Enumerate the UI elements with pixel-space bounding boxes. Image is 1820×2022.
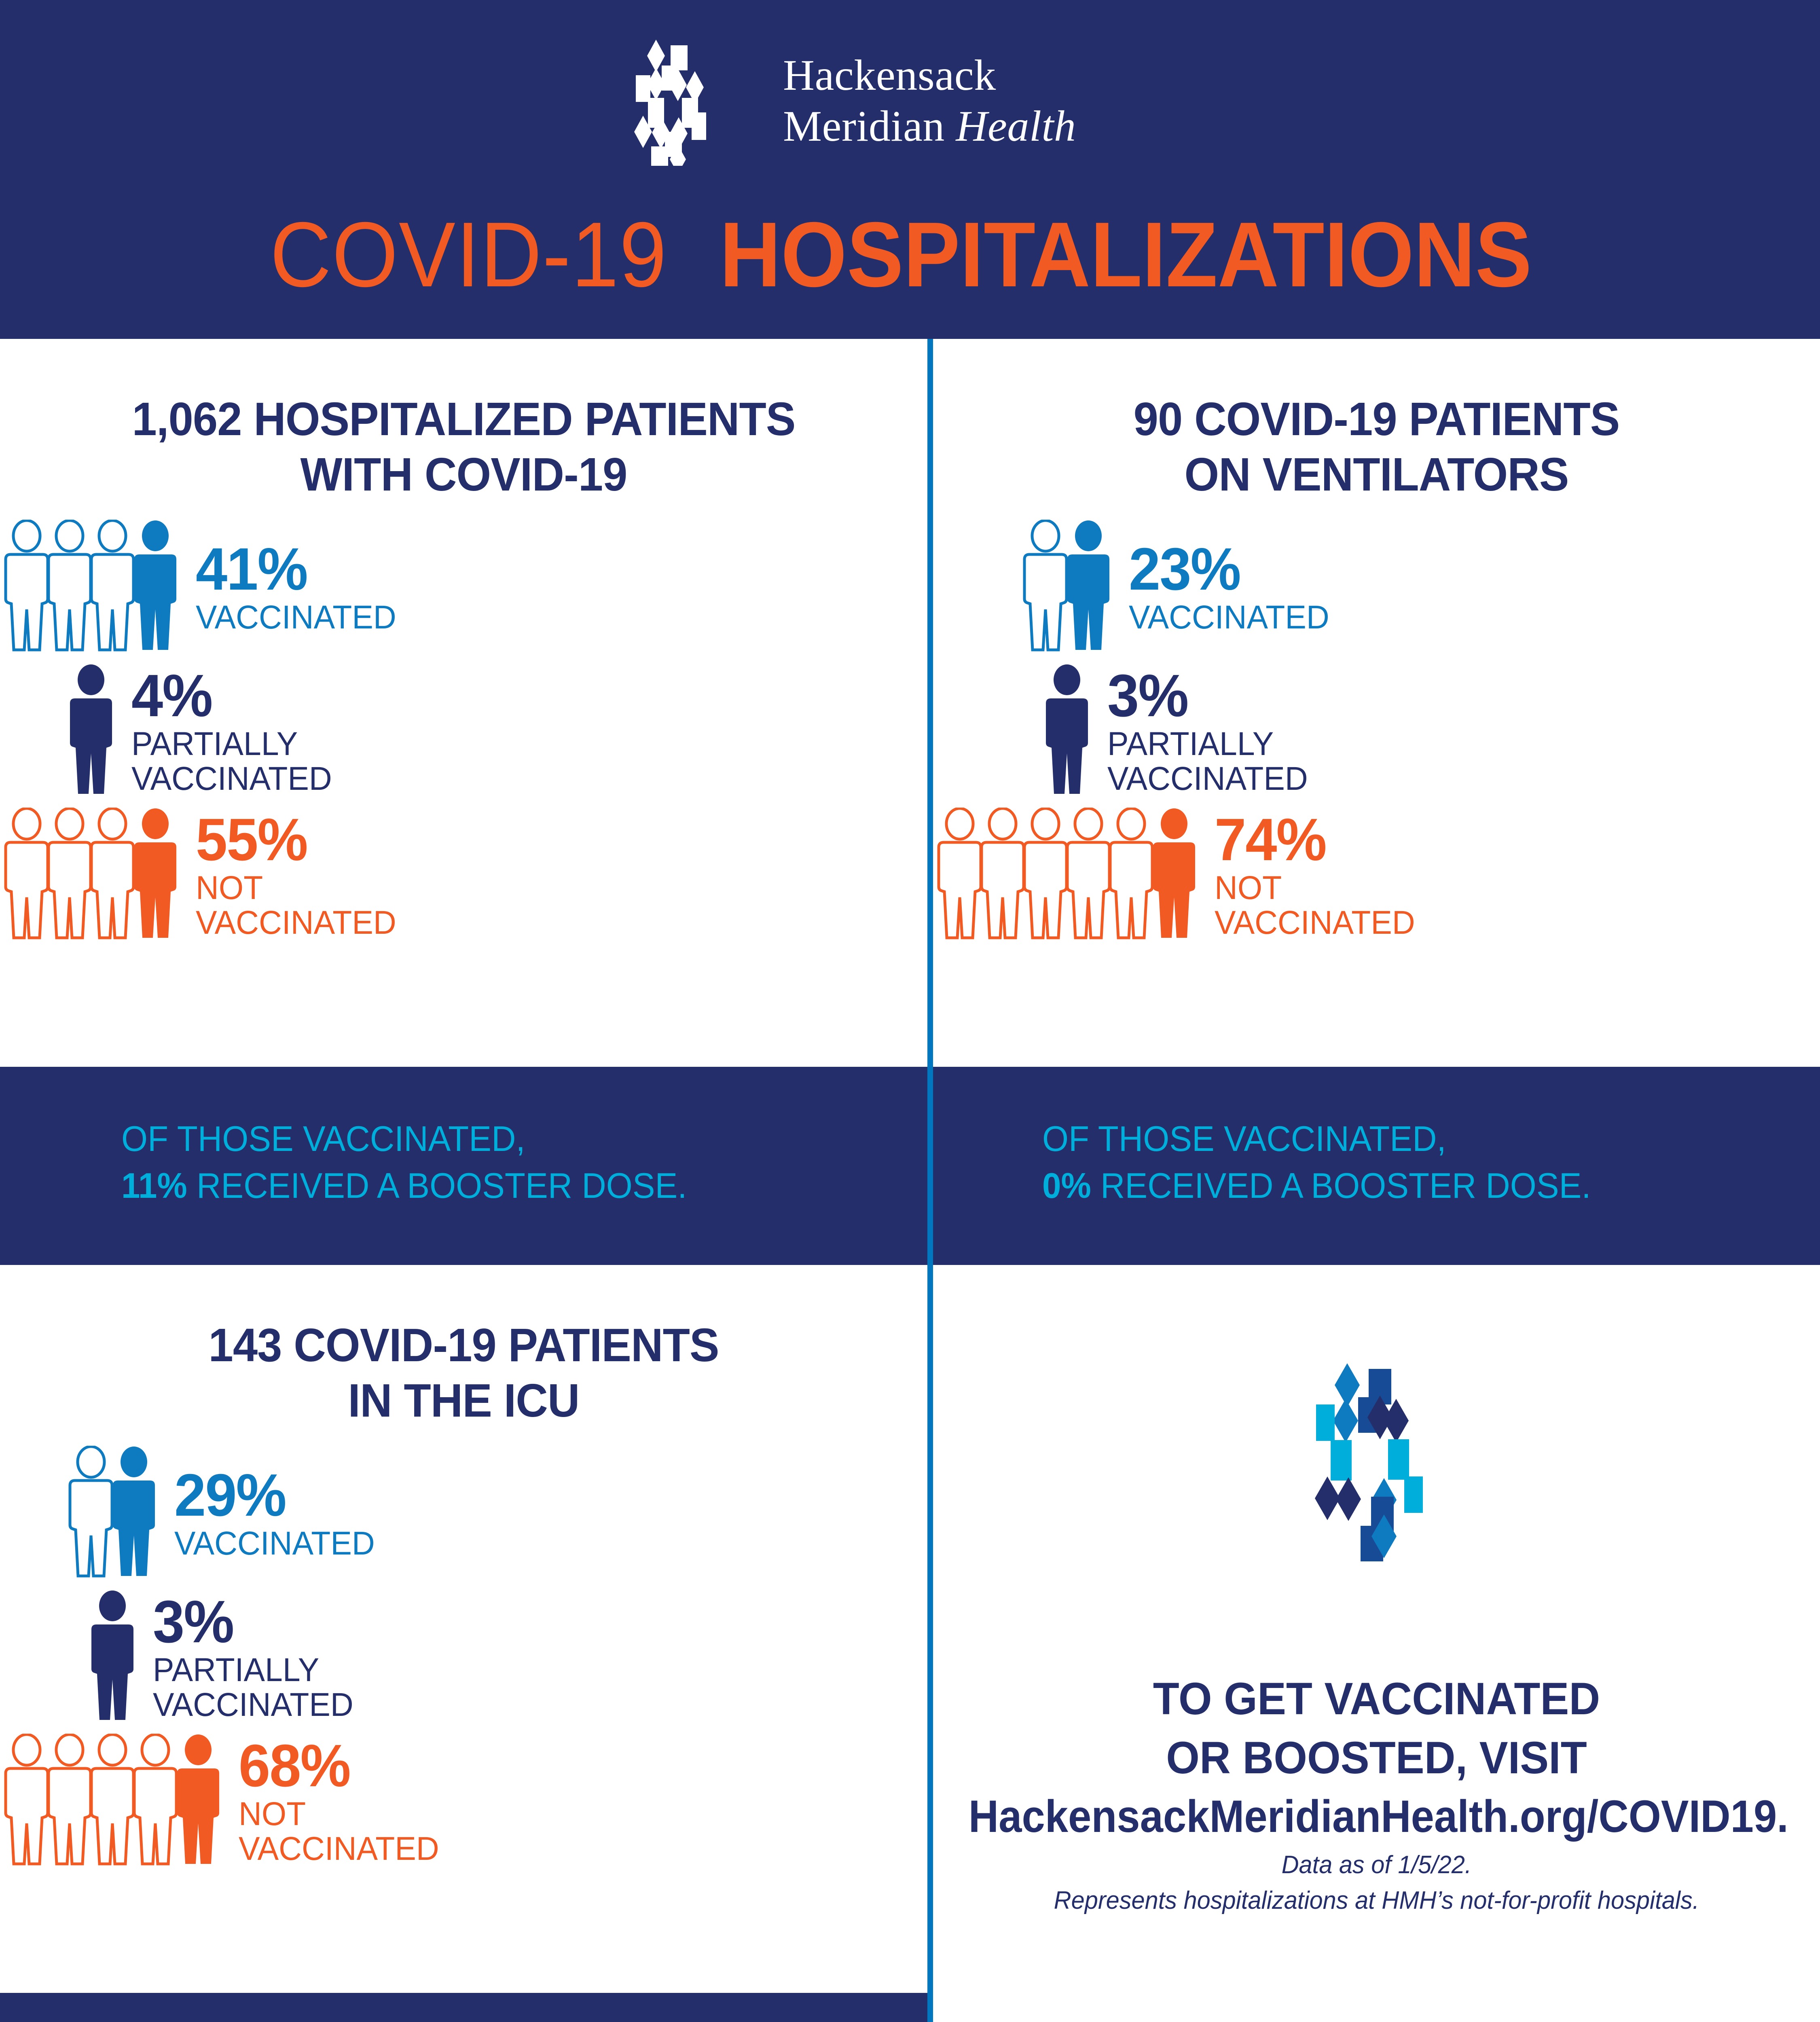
stat-percent: 3%	[153, 1595, 351, 1650]
booster-line-2: 11% RECEIVED A BOOSTER DOSE.	[121, 1162, 687, 1209]
booster-pct: 11%	[121, 1165, 187, 1206]
stat-text: 41%VACCINATED	[196, 542, 404, 635]
brand-meridian: Meridian	[783, 102, 956, 150]
stat-percent: 55%	[196, 812, 394, 867]
stat-row: 4%PARTIALLY VACCINATED	[0, 666, 927, 799]
stat-row: 29%VACCINATED	[0, 1448, 927, 1581]
stat-percent: 68%	[239, 1739, 437, 1794]
booster-text-hospitalized: OF THOSE VACCINATED, 11% RECEIVED A BOOS…	[121, 1115, 687, 1209]
brand-line-1: Hackensack	[783, 50, 1076, 101]
booster-line-2: 0% RECEIVED A BOOSTER DOSE.	[1042, 1162, 1591, 1209]
stat-label: NOT VACCINATED	[1215, 871, 1415, 940]
person-icon-filled	[171, 1734, 225, 1869]
heading-line-2: ON VENTILATORS	[990, 447, 1763, 502]
stat-text: 68%NOT VACCINATED	[239, 1739, 447, 1866]
vertical-divider-bottom	[927, 1265, 933, 2022]
stat-percent: 3%	[1107, 668, 1306, 723]
panel-ventilators-stats: 23%VACCINATED3%PARTIALLY VACCINATED74%NO…	[933, 522, 1820, 943]
booster-band-icu: OF THOSE VACCINATED, 7% RECEIVED A BOOST…	[0, 1993, 927, 2022]
stat-text: 3%PARTIALLY VACCINATED	[1107, 668, 1316, 796]
cta-line-2: OR BOOSTED, VISIT	[955, 1728, 1798, 1787]
stat-label: PARTIALLY VACCINATED	[153, 1653, 353, 1722]
brand-wordmark: Hackensack Meridian Health	[783, 50, 1076, 152]
cta-url-link[interactable]: HackensackMeridianHealth.org/COVID19.	[969, 1787, 1785, 1846]
booster-band-ventilators: OF THOSE VACCINATED, 0% RECEIVED A BOOST…	[933, 1067, 1820, 1265]
footnote-data-as-of: Data as of 1/5/22.	[951, 1847, 1802, 1883]
heading-line-2: IN THE ICU	[58, 1373, 870, 1428]
stat-row: 68%NOT VACCINATED	[0, 1736, 927, 1869]
pictogram-people-icon	[933, 666, 1094, 799]
panel-icu-stats: 29%VACCINATED3%PARTIALLY VACCINATED68%NO…	[0, 1448, 927, 1869]
pictogram-people-icon	[0, 1592, 139, 1725]
person-icon-filled	[86, 1590, 139, 1725]
panel-icu-heading: 143 COVID-19 PATIENTS IN THE ICU	[23, 1265, 904, 1428]
booster-line-1: OF THOSE VACCINATED,	[121, 1115, 687, 1162]
person-icon-filled	[129, 520, 182, 655]
brand-line-2: Meridian Health	[783, 101, 1076, 152]
booster-band-hospitalized: OF THOSE VACCINATED, 11% RECEIVED A BOOS…	[0, 1067, 927, 1265]
hackensack-meridian-diamond-mark-icon	[630, 36, 764, 166]
stat-label: NOT VACCINATED	[239, 1797, 439, 1866]
stat-percent: 29%	[174, 1468, 373, 1523]
stat-text: 29%VACCINATED	[174, 1468, 383, 1561]
pictogram-people-icon	[0, 666, 118, 799]
booster-text-ventilators: OF THOSE VACCINATED, 0% RECEIVED A BOOST…	[1042, 1115, 1591, 1209]
panel-cta: TO GET VACCINATED OR BOOSTED, VISIT Hack…	[933, 1265, 1820, 2022]
pictogram-people-icon	[933, 810, 1201, 943]
stat-percent: 41%	[196, 542, 394, 597]
person-icon-filled	[107, 1446, 161, 1581]
pictogram-people-icon	[0, 522, 182, 655]
stat-label: PARTIALLY VACCINATED	[1107, 727, 1308, 796]
stat-label: NOT VACCINATED	[196, 871, 396, 940]
cta-footnote: Data as of 1/5/22. Represents hospitaliz…	[933, 1847, 1820, 1918]
pictogram-people-icon	[0, 1736, 225, 1869]
stat-row: 3%PARTIALLY VACCINATED	[933, 666, 1820, 799]
stat-text: 23%VACCINATED	[1129, 542, 1337, 635]
booster-line-1: OF THOSE VACCINATED,	[1042, 1115, 1591, 1162]
page-title-bold: HOSPITALIZATIONS	[720, 202, 1532, 308]
stat-text: 55%NOT VACCINATED	[196, 812, 404, 940]
panel-hospitalized: 1,062 HOSPITALIZED PATIENTS WITH COVID-1…	[0, 339, 927, 1067]
person-icon-filled	[129, 808, 182, 943]
panel-ventilators: 90 COVID-19 PATIENTS ON VENTILATORS 23%V…	[933, 339, 1820, 1067]
booster-rest: RECEIVED A BOOSTER DOSE.	[187, 1165, 687, 1206]
stat-row: 55%NOT VACCINATED	[0, 810, 927, 943]
stat-row: 23%VACCINATED	[933, 522, 1820, 655]
stat-percent: 4%	[131, 668, 330, 723]
stat-row: 74%NOT VACCINATED	[933, 810, 1820, 943]
panel-icu: 143 COVID-19 PATIENTS IN THE ICU 29%VACC…	[0, 1265, 927, 1993]
panel-hospitalized-stats: 41%VACCINATED4%PARTIALLY VACCINATED55%NO…	[0, 522, 927, 943]
heading-line-1: 90 COVID-19 PATIENTS	[990, 391, 1763, 447]
stat-row: 3%PARTIALLY VACCINATED	[0, 1592, 927, 1725]
vertical-divider-top	[927, 339, 933, 1265]
pictogram-people-icon	[0, 810, 182, 943]
hackensack-meridian-color-diamond-mark-icon	[1292, 1360, 1462, 1611]
stat-row: 41%VACCINATED	[0, 522, 927, 655]
heading-line-1: 143 COVID-19 PATIENTS	[58, 1318, 870, 1373]
stat-percent: 23%	[1129, 542, 1327, 597]
person-icon-filled	[64, 664, 118, 799]
header-banner: Hackensack Meridian Health COVID-19 HOSP…	[0, 0, 1820, 339]
person-icon-filled	[1040, 664, 1094, 799]
stat-label: PARTIALLY VACCINATED	[131, 727, 332, 796]
stat-percent: 74%	[1215, 812, 1413, 867]
pictogram-people-icon	[0, 1448, 161, 1581]
cta-copy: TO GET VACCINATED OR BOOSTED, VISIT Hack…	[933, 1669, 1820, 1846]
brand-lockup: Hackensack Meridian Health	[630, 36, 1196, 166]
stat-text: 4%PARTIALLY VACCINATED	[131, 668, 340, 796]
booster-rest: RECEIVED A BOOSTER DOSE.	[1091, 1165, 1591, 1206]
person-icon-filled	[1147, 808, 1201, 943]
footnote-represents: Represents hospitalizations at HMH’s not…	[951, 1883, 1802, 1918]
stat-text: 3%PARTIALLY VACCINATED	[153, 1595, 362, 1722]
panel-ventilators-heading: 90 COVID-19 PATIENTS ON VENTILATORS	[955, 339, 1798, 502]
person-icon-filled	[1062, 520, 1115, 655]
heading-line-2: WITH COVID-19	[58, 447, 870, 502]
page-title-light: COVID-19	[270, 202, 667, 308]
heading-line-1: 1,062 HOSPITALIZED PATIENTS	[58, 391, 870, 447]
stat-text: 74%NOT VACCINATED	[1215, 812, 1423, 940]
stat-label: VACCINATED	[174, 1526, 375, 1561]
brand-health: Health	[956, 102, 1076, 150]
page-title: COVID-19 HOSPITALIZATIONS	[0, 202, 1820, 308]
pictogram-people-icon	[933, 522, 1115, 655]
panel-hospitalized-heading: 1,062 HOSPITALIZED PATIENTS WITH COVID-1…	[23, 339, 904, 502]
cta-line-1: TO GET VACCINATED	[955, 1669, 1798, 1728]
booster-pct: 0%	[1042, 1165, 1091, 1206]
stat-label: VACCINATED	[1129, 600, 1329, 635]
stat-label: VACCINATED	[196, 600, 396, 635]
